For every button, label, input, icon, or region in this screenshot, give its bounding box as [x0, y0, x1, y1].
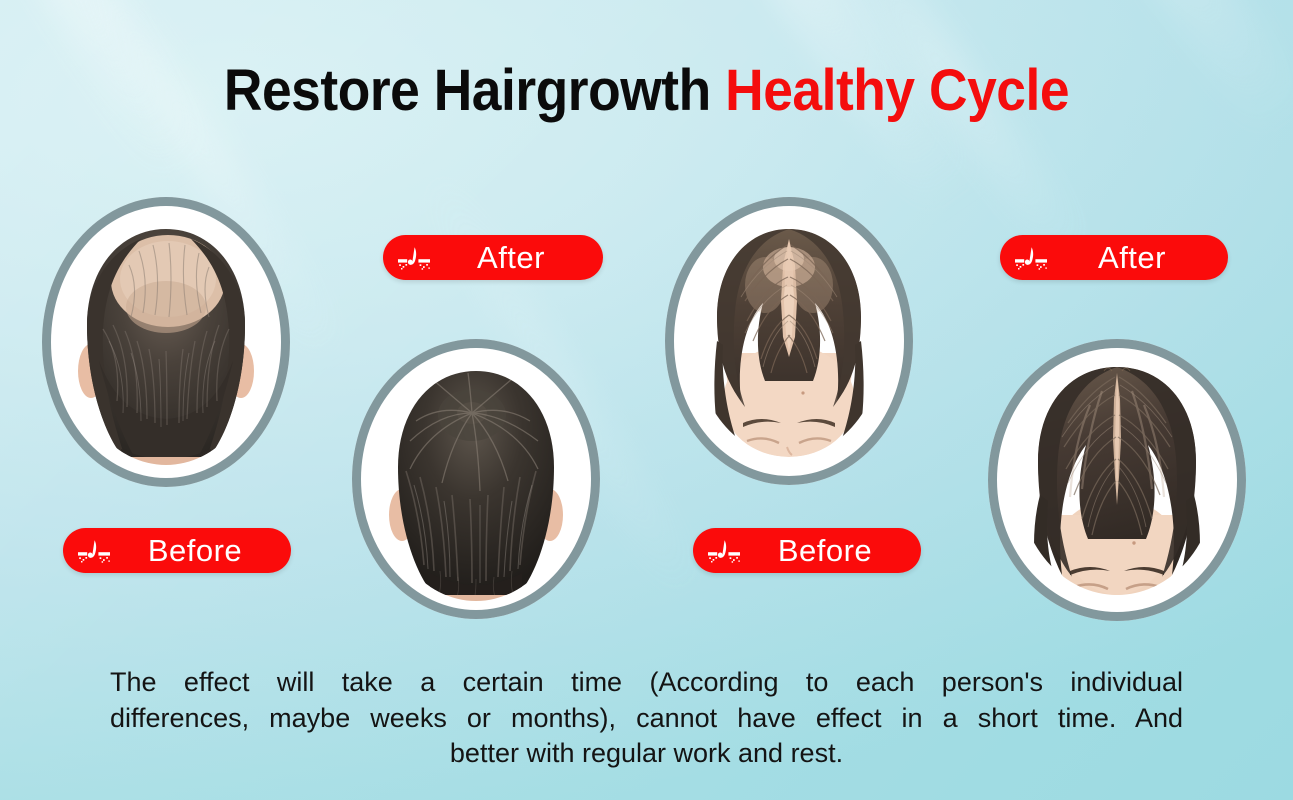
- hair-follicle-icon: [1014, 245, 1048, 271]
- badge-after-right[interactable]: After: [1000, 235, 1228, 280]
- caption-line-1: The effect will take a certain time (Acc…: [110, 665, 1183, 701]
- photo-outer-ring: [665, 197, 913, 485]
- badge-before-right[interactable]: Before: [693, 528, 921, 573]
- photo-outer-ring: [988, 339, 1246, 621]
- photo-male-after: [352, 339, 600, 619]
- photo-male-before: [42, 197, 290, 487]
- badge-before-left[interactable]: Before: [63, 528, 291, 573]
- caption-line-2: differences, maybe weeks or months), can…: [110, 701, 1183, 737]
- badge-label: Before: [119, 535, 265, 566]
- badge-label: After: [439, 242, 577, 273]
- photo-female-after: [988, 339, 1246, 621]
- photo-outer-ring: [42, 197, 290, 487]
- hair-follicle-icon: [397, 245, 431, 271]
- disclaimer-caption: The effect will take a certain time (Acc…: [110, 665, 1183, 772]
- hair-follicle-icon: [707, 538, 741, 564]
- title-primary: Restore Hairgrowth: [224, 58, 711, 123]
- badge-after-left[interactable]: After: [383, 235, 603, 280]
- page-title: Restore Hairgrowth Healthy Cycle: [52, 62, 1242, 120]
- caption-line-3: better with regular work and rest.: [110, 736, 1183, 772]
- promo-banner: Restore Hairgrowth Healthy Cycle: [0, 0, 1293, 800]
- badge-label: Before: [749, 535, 895, 566]
- photo-outer-ring: [352, 339, 600, 619]
- badge-label: After: [1056, 242, 1202, 273]
- photo-female-before: [665, 197, 913, 485]
- hair-follicle-icon: [77, 538, 111, 564]
- title-accent: Healthy Cycle: [725, 58, 1069, 123]
